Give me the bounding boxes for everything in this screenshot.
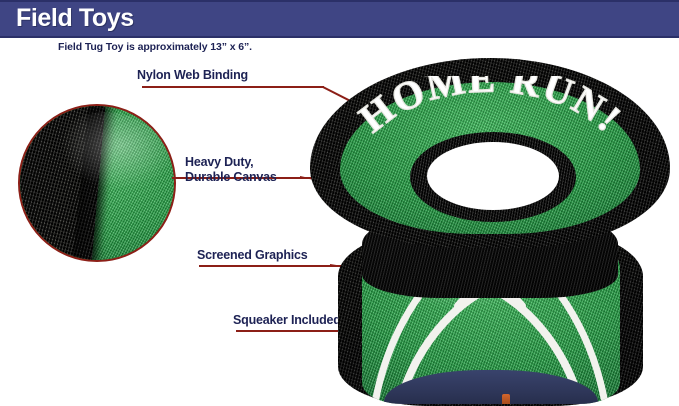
callout-label-line2: Durable Canvas (185, 170, 277, 184)
product-photo-field-tug-toy: HOME RUN! (300, 58, 679, 401)
callout-label-line1: Screened Graphics (197, 248, 308, 262)
callout-label-line1: Nylon Web Binding (137, 68, 248, 82)
infographic-page: Field Toys Field Tug Toy is approximatel… (0, 0, 679, 401)
callout-label-line1: Heavy Duty, (185, 155, 253, 169)
inset-highlight (30, 112, 176, 262)
callout-heavy-duty-durable-canvas: Heavy Duty, Durable Canvas (185, 155, 277, 185)
callout-nylon-web-binding: Nylon Web Binding (137, 68, 248, 83)
callout-screened-graphics: Screened Graphics (197, 248, 308, 263)
leader-line-nylon-horizontal (142, 86, 324, 88)
toy-tag (502, 394, 510, 404)
toy-handle-hole (427, 142, 559, 210)
magnified-fabric-detail (18, 104, 176, 262)
page-title: Field Toys (16, 4, 134, 33)
product-dimensions-note: Field Tug Toy is approximately 13” x 6”. (58, 41, 252, 53)
